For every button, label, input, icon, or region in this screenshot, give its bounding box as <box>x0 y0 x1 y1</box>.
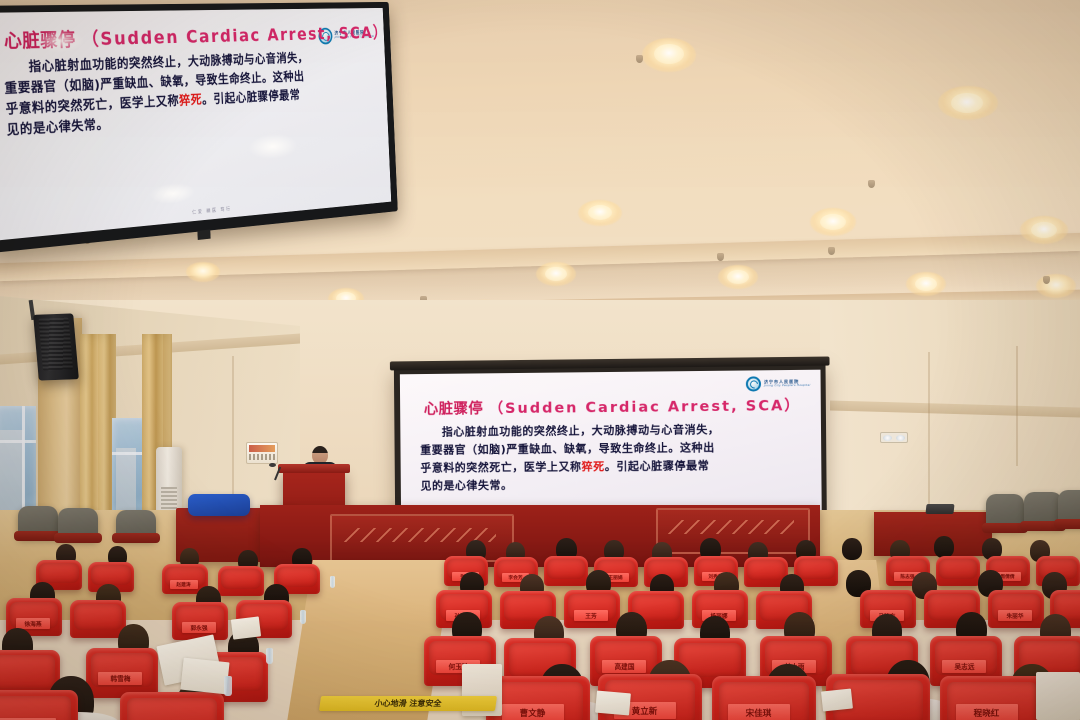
plaque-icon-row <box>249 445 275 452</box>
projection-slide-title: 心脏骤停 （Sudden Cardiac Arrest, SCA） <box>424 394 801 419</box>
projection-slide-body: 指心脏射血功能的突然终止，大动脉搏动与心音消失， 重要器官（如脑)严重缺血、缺氧… <box>420 420 807 496</box>
slide-title-cn: 心脏骤停 <box>3 29 76 52</box>
projection-hospital-logo: 济宁市人民医院 Jining City People's Hospital <box>746 376 811 392</box>
hospital-logo-icon <box>746 376 761 391</box>
auditorium-seat <box>564 590 620 628</box>
ceiling-downlight-core <box>951 93 983 113</box>
auditorium-seat <box>218 566 264 596</box>
highlight-term: 猝死 <box>582 460 605 473</box>
monitor-mount <box>197 230 210 240</box>
wall-seam <box>1016 346 1018 466</box>
water-bottle <box>266 648 273 664</box>
water-bottle <box>300 610 306 624</box>
slide-title-cn: 心脏骤停 <box>424 401 484 418</box>
wall-seam <box>232 356 234 516</box>
lecture-hall-photo: 安全出口 济宁市人民医院 Jining City People's Hospit… <box>0 0 1080 720</box>
sprinkler-head <box>636 55 643 63</box>
sprinkler-head <box>717 253 724 261</box>
ceiling-downlight-core <box>820 214 846 230</box>
highlight-term: 猝死 <box>179 93 203 109</box>
monitor-slide: 济宁市人民医院 Jining City People's Hospital 心脏… <box>0 8 391 241</box>
tote-bag <box>1036 672 1080 720</box>
attendee-head <box>934 536 954 558</box>
blue-bag <box>188 494 250 516</box>
monitor-screen: 济宁市人民医院 Jining City People's Hospital 心脏… <box>0 8 391 241</box>
auditorium-seat <box>172 602 228 640</box>
seat-name-placard: 高建国 <box>602 660 646 673</box>
placard-name: 黄立新 <box>632 704 658 716</box>
ceiling-downlight <box>1036 274 1076 298</box>
monitor-slide-body: 指心脏射血功能的突然终止，大动脉搏动与心音消失， 重要器官（如脑)严重缺血、缺氧… <box>3 47 376 141</box>
pa-speaker <box>33 313 79 380</box>
seat-name-placard: 王芳 <box>574 610 608 621</box>
laptop <box>925 504 954 514</box>
speaker-grill <box>38 318 73 371</box>
slide-body-line-4: 见的是心律失常。 <box>421 475 808 496</box>
wall-seam <box>928 352 930 512</box>
handout-paper <box>180 658 229 695</box>
projection-slide: 济宁市人民医院 Jining City People's Hospital 心脏… <box>400 370 822 526</box>
sprinkler-head <box>828 247 835 255</box>
ceiling-downlight-core <box>545 267 567 281</box>
executive-chair <box>1058 490 1080 526</box>
water-bottle <box>224 676 232 696</box>
ceiling-downlight-core <box>727 270 749 284</box>
slide-title-en: （Sudden Cardiac Arrest, SCA） <box>81 23 388 50</box>
placard-name: 朱丽华 <box>1006 611 1023 620</box>
monitor-slide-signature: 仁爱 精医 笃行 <box>192 206 232 216</box>
handout-paper <box>595 691 631 716</box>
ceiling-downlight-core <box>915 277 937 291</box>
hospital-name-en: Jining City People's Hospital <box>764 384 811 387</box>
seat-name-placard: 曹文静 <box>502 704 564 720</box>
placard-name: 吴志远 <box>954 662 974 672</box>
hospital-logo-text: 济宁市人民医院 Jining City People's Hospital <box>764 380 811 388</box>
attendee-head <box>842 538 862 560</box>
auditorium-seat <box>544 556 588 586</box>
seat-name-placard: 吴志远 <box>942 660 986 673</box>
executive-chair <box>18 506 58 538</box>
plaque-text-row <box>249 454 275 460</box>
auditorium-seat <box>0 690 78 720</box>
ceiling-downlight-core <box>1031 222 1057 238</box>
floor-safety-strip: 小心地滑 注意安全 <box>319 696 497 711</box>
fire-safety-plaque <box>246 442 278 464</box>
seat-name-placard: 程晓红 <box>956 704 1018 720</box>
seat-name-placard: 韩雪梅 <box>98 672 142 685</box>
placard-name: 宋佳琪 <box>746 706 772 718</box>
lectern-top <box>278 464 350 473</box>
curtain-left <box>80 334 116 532</box>
floor-strip-text: 小心地滑 注意安全 <box>374 698 442 709</box>
placard-name: 赵建涛 <box>177 581 191 588</box>
sprinkler-head <box>868 180 875 188</box>
auditorium-seat <box>120 692 224 720</box>
seat-name-placard: 朱丽华 <box>998 610 1032 621</box>
ceiling-downlight-core <box>654 44 684 64</box>
emergency-light-right <box>880 432 908 443</box>
placard-name: 韩雪梅 <box>110 674 130 684</box>
window-mullion <box>0 440 36 443</box>
executive-chair <box>986 494 1024 530</box>
microphone-head <box>269 463 276 467</box>
placard-name: 高建国 <box>614 662 634 672</box>
executive-chair <box>116 510 156 540</box>
handout-paper <box>231 616 261 639</box>
seat-name-placard: 郭永强 <box>182 622 216 633</box>
placard-name: 徐海燕 <box>24 619 41 628</box>
ceiling-downlight <box>186 262 220 282</box>
projection-surface: 济宁市人民医院 Jining City People's Hospital 心脏… <box>400 370 822 526</box>
seat-name-placard: 赵建涛 <box>170 580 198 589</box>
wall-monitor[interactable]: 济宁市人民医院 Jining City People's Hospital 心脏… <box>0 2 398 254</box>
handout-paper <box>821 688 853 711</box>
seat-name-placard: 宋佳琪 <box>728 704 790 720</box>
slide-title-en: （Sudden Cardiac Arrest, SCA） <box>489 398 801 417</box>
executive-chair <box>58 508 98 540</box>
placard-name: 郭永强 <box>190 623 207 632</box>
auditorium-seat <box>70 600 126 638</box>
placard-name: 曹文静 <box>520 706 546 718</box>
auditorium-seat <box>936 556 980 586</box>
water-bottle <box>330 576 335 588</box>
placard-name: 王芳 <box>585 611 596 620</box>
auditorium-seat <box>988 590 1044 628</box>
stage-zigzag-trim <box>668 520 794 534</box>
placard-name: 程晓红 <box>974 706 1000 718</box>
ceiling-downlight-core <box>588 205 612 220</box>
sprinkler-head <box>1043 276 1050 284</box>
